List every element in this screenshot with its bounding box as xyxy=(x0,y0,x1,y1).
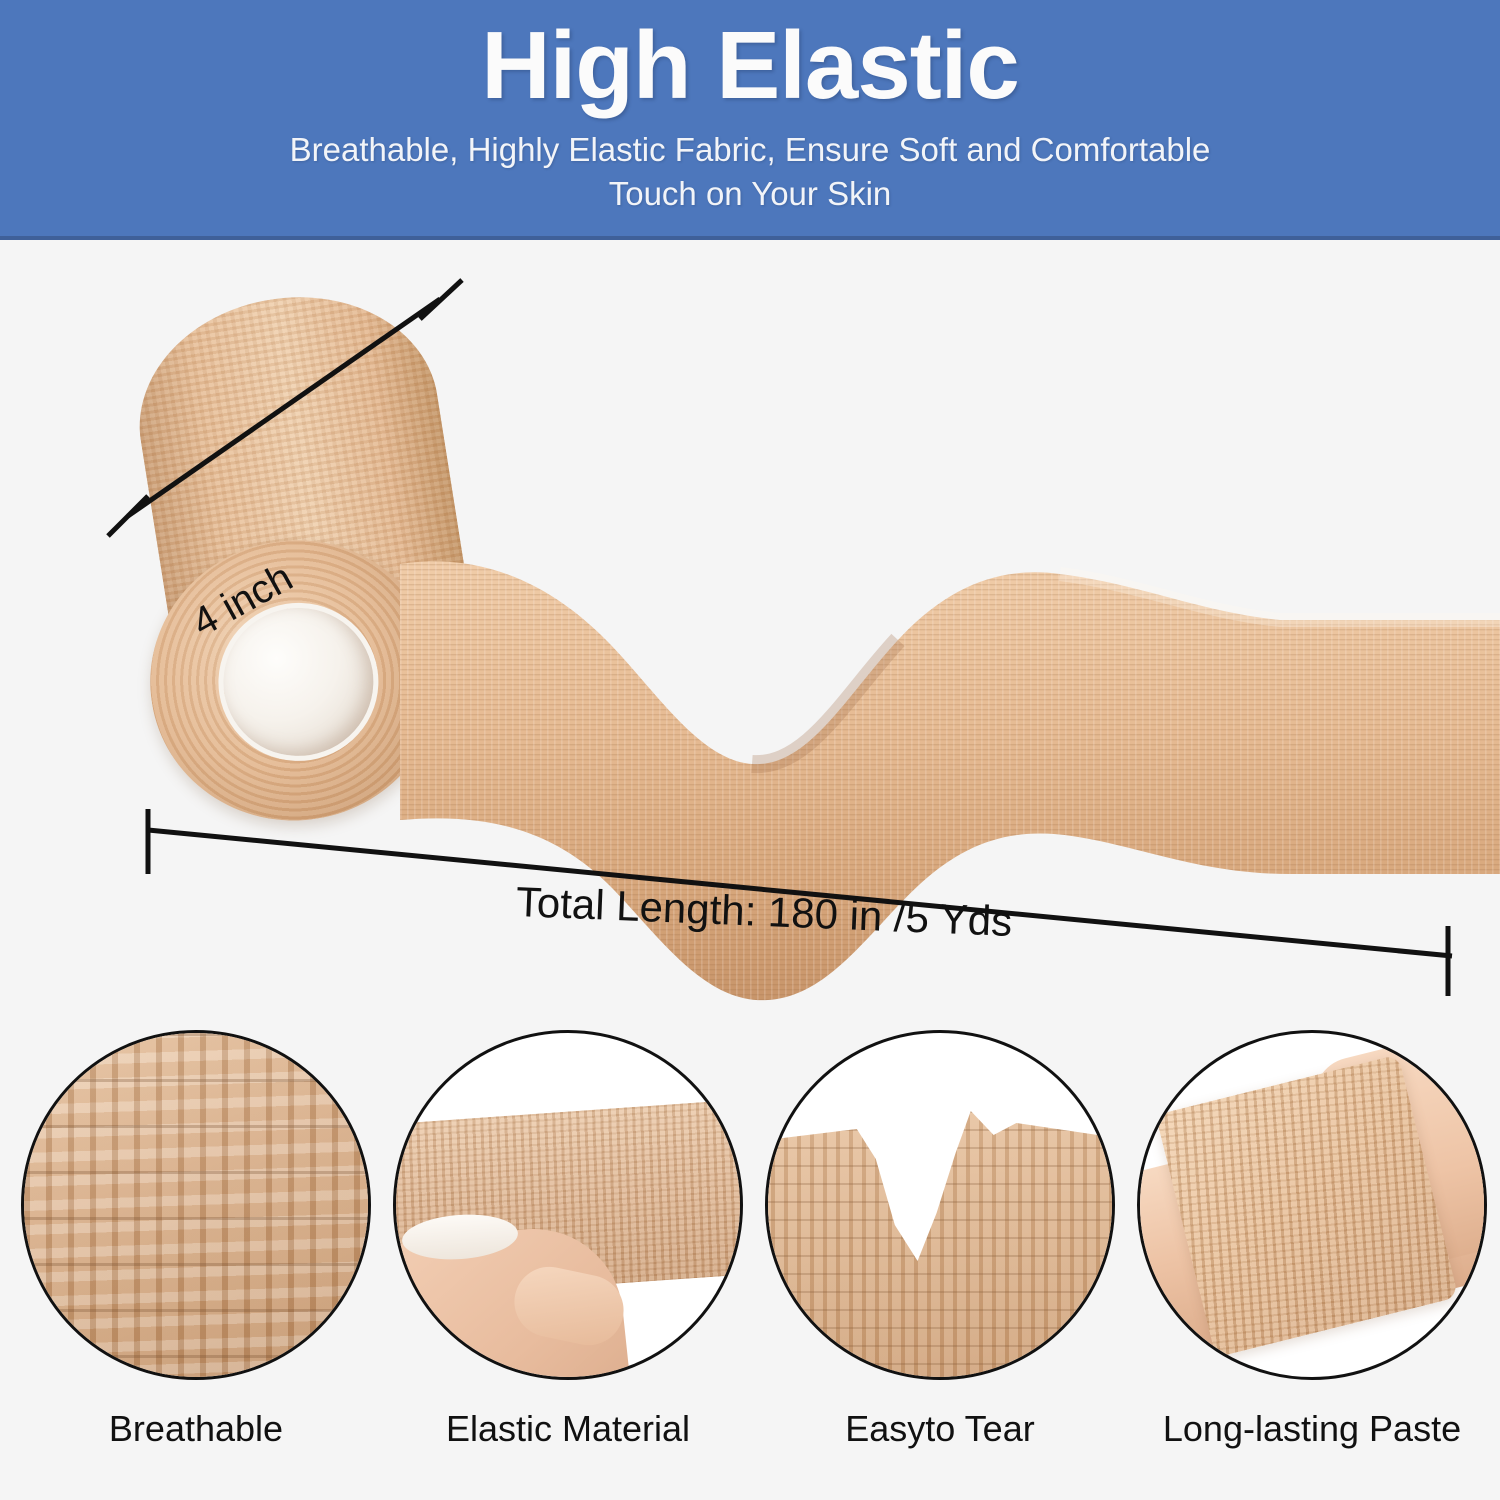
dim-width-cap-bottom xyxy=(420,280,462,319)
header-banner: High Elastic Breathable, Highly Elastic … xyxy=(0,0,1500,240)
feature-item-elastic-material: Elastic Material xyxy=(388,1030,748,1450)
hand-stretching-roll-icon xyxy=(393,1030,743,1380)
feature-label: Long-lasting Paste xyxy=(1132,1408,1492,1450)
feature-item-breathable: Breathable xyxy=(16,1030,376,1450)
feature-label: Easyto Tear xyxy=(760,1408,1120,1450)
fabric-macro-texture-icon xyxy=(21,1030,371,1380)
bandage-on-arm-icon xyxy=(1137,1030,1487,1380)
feature-item-long-lasting-paste: Long-lasting Paste xyxy=(1132,1030,1492,1450)
page-title: High Elastic xyxy=(0,14,1500,118)
feature-label: Elastic Material xyxy=(388,1408,748,1450)
feature-item-easy-to-tear: Easyto Tear xyxy=(760,1030,1120,1450)
product-infographic: High Elastic Breathable, Highly Elastic … xyxy=(0,0,1500,1500)
banner-subtitle-line-2: Touch on Your Skin xyxy=(0,172,1500,217)
feature-label: Breathable xyxy=(16,1408,376,1450)
banner-subtitle: Breathable, Highly Elastic Fabric, Ensur… xyxy=(0,128,1500,217)
feature-gallery: Breathable Elastic Material Easyto Tear xyxy=(0,1030,1500,1500)
banner-subtitle-line-1: Breathable, Highly Elastic Fabric, Ensur… xyxy=(0,128,1500,173)
torn-bandage-icon xyxy=(765,1030,1115,1380)
torn-edge-fabric xyxy=(765,1093,1115,1380)
rib-texture-fill xyxy=(24,1033,368,1377)
